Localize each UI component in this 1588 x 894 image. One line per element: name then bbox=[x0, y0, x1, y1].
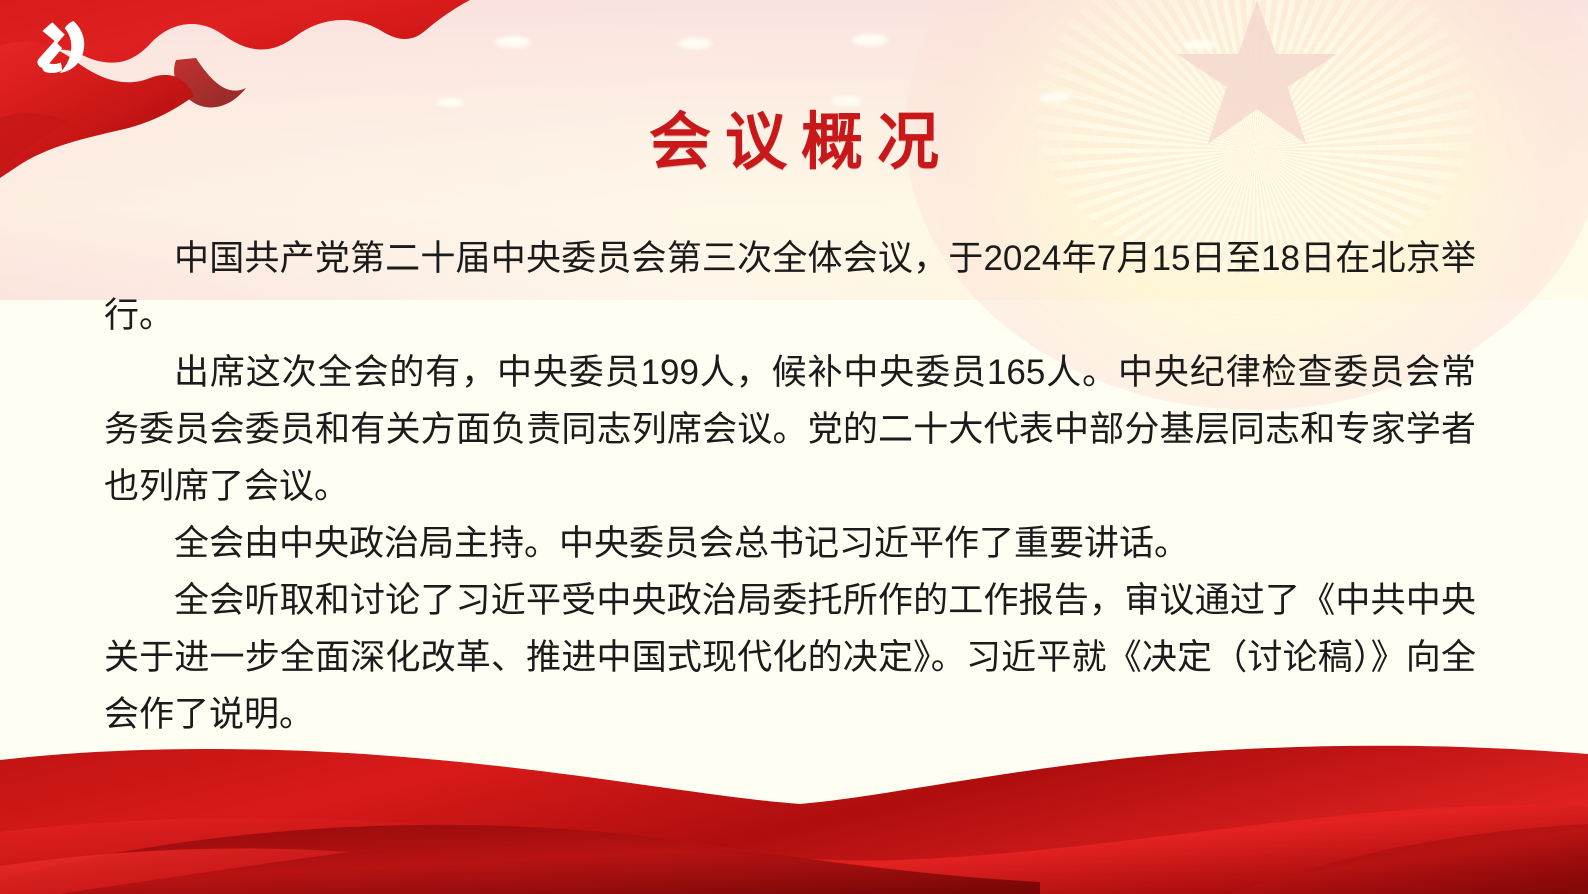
body-text-block: 中国共产党第二十届中央委员会第三次全体会议，于2024年7月15日至18日在北京… bbox=[104, 230, 1476, 743]
presentation-slide: 会议概况 中国共产党第二十届中央委员会第三次全体会议，于2024年7月15日至1… bbox=[0, 0, 1588, 894]
body-paragraph-2: 出席这次全会的有，中央委员199人，候补中央委员165人。中央纪律检查委员会常务… bbox=[104, 344, 1476, 515]
page-title: 会议概况 bbox=[0, 112, 1588, 174]
body-paragraph-3: 全会由中央政治局主持。中央委员会总书记习近平作了重要讲话。 bbox=[104, 515, 1476, 572]
body-paragraph-4: 全会听取和讨论了习近平受中央政治局委托所作的工作报告，审议通过了《中共中央关于进… bbox=[104, 572, 1476, 743]
slide-content: 会议概况 中国共产党第二十届中央委员会第三次全体会议，于2024年7月15日至1… bbox=[0, 0, 1588, 894]
body-paragraph-1: 中国共产党第二十届中央委员会第三次全体会议，于2024年7月15日至18日在北京… bbox=[104, 230, 1476, 344]
